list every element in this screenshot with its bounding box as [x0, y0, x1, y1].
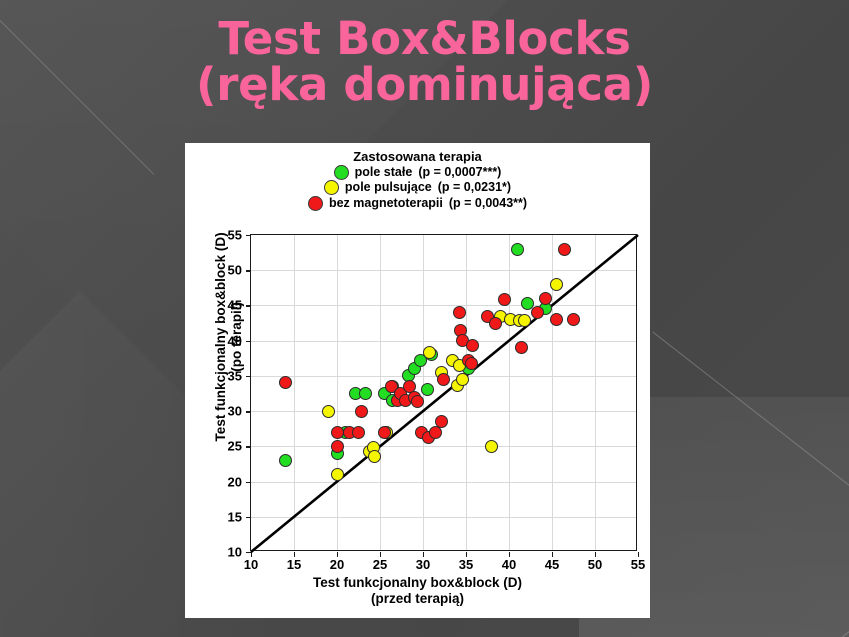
data-point[interactable] — [331, 440, 344, 453]
data-point[interactable] — [322, 405, 335, 418]
data-point[interactable] — [567, 313, 580, 326]
data-point[interactable] — [531, 306, 544, 319]
data-point[interactable] — [489, 317, 502, 330]
data-point[interactable] — [456, 373, 469, 386]
data-point[interactable] — [359, 387, 372, 400]
data-point[interactable] — [352, 426, 365, 439]
data-point[interactable] — [437, 373, 450, 386]
decorative-cross-line-b — [652, 331, 849, 516]
data-point[interactable] — [453, 306, 466, 319]
data-point[interactable] — [550, 278, 563, 291]
identity-reference-line — [251, 235, 638, 552]
slide: Test Box&Blocks (ręka dominująca) Zastos… — [0, 0, 849, 637]
chart-panel: Zastosowana terapia pole stałe (p = 0,00… — [185, 143, 650, 618]
x-tick-label: 20 — [330, 552, 344, 572]
data-point[interactable] — [378, 426, 391, 439]
x-tick-label: 30 — [416, 552, 430, 572]
x-tick-label: 35 — [459, 552, 473, 572]
x-tick-label: 50 — [588, 552, 602, 572]
data-point[interactable] — [511, 243, 524, 256]
data-point[interactable] — [331, 468, 344, 481]
data-point[interactable] — [550, 313, 563, 326]
x-tick-label: 10 — [244, 552, 258, 572]
y-tick-label: 10 — [228, 545, 242, 560]
data-point[interactable] — [465, 357, 478, 370]
data-point[interactable] — [279, 454, 292, 467]
y-tick-label: 15 — [228, 509, 242, 524]
x-tick-label: 40 — [502, 552, 516, 572]
data-point[interactable] — [331, 426, 344, 439]
data-point[interactable] — [355, 405, 368, 418]
x-tick-label: 15 — [287, 552, 301, 572]
scatter-plot-area: 10152025303540455055 1015202530354045505… — [250, 234, 637, 551]
decorative-cross-line-a — [652, 600, 849, 637]
slide-title: Test Box&Blocks (ręka dominująca) — [0, 16, 849, 109]
x-tick-label: 25 — [373, 552, 387, 572]
data-point[interactable] — [558, 243, 571, 256]
plot-wrapper: 10152025303540455055 1015202530354045505… — [185, 143, 650, 618]
x-tick-label: 45 — [545, 552, 559, 572]
x-tick-label: 55 — [631, 552, 645, 572]
y-axis-title: Test funkcjonalny box&block (D) (po tera… — [213, 197, 245, 477]
x-axis-title: Test funkcjonalny box&block (D) (przed t… — [185, 575, 650, 607]
